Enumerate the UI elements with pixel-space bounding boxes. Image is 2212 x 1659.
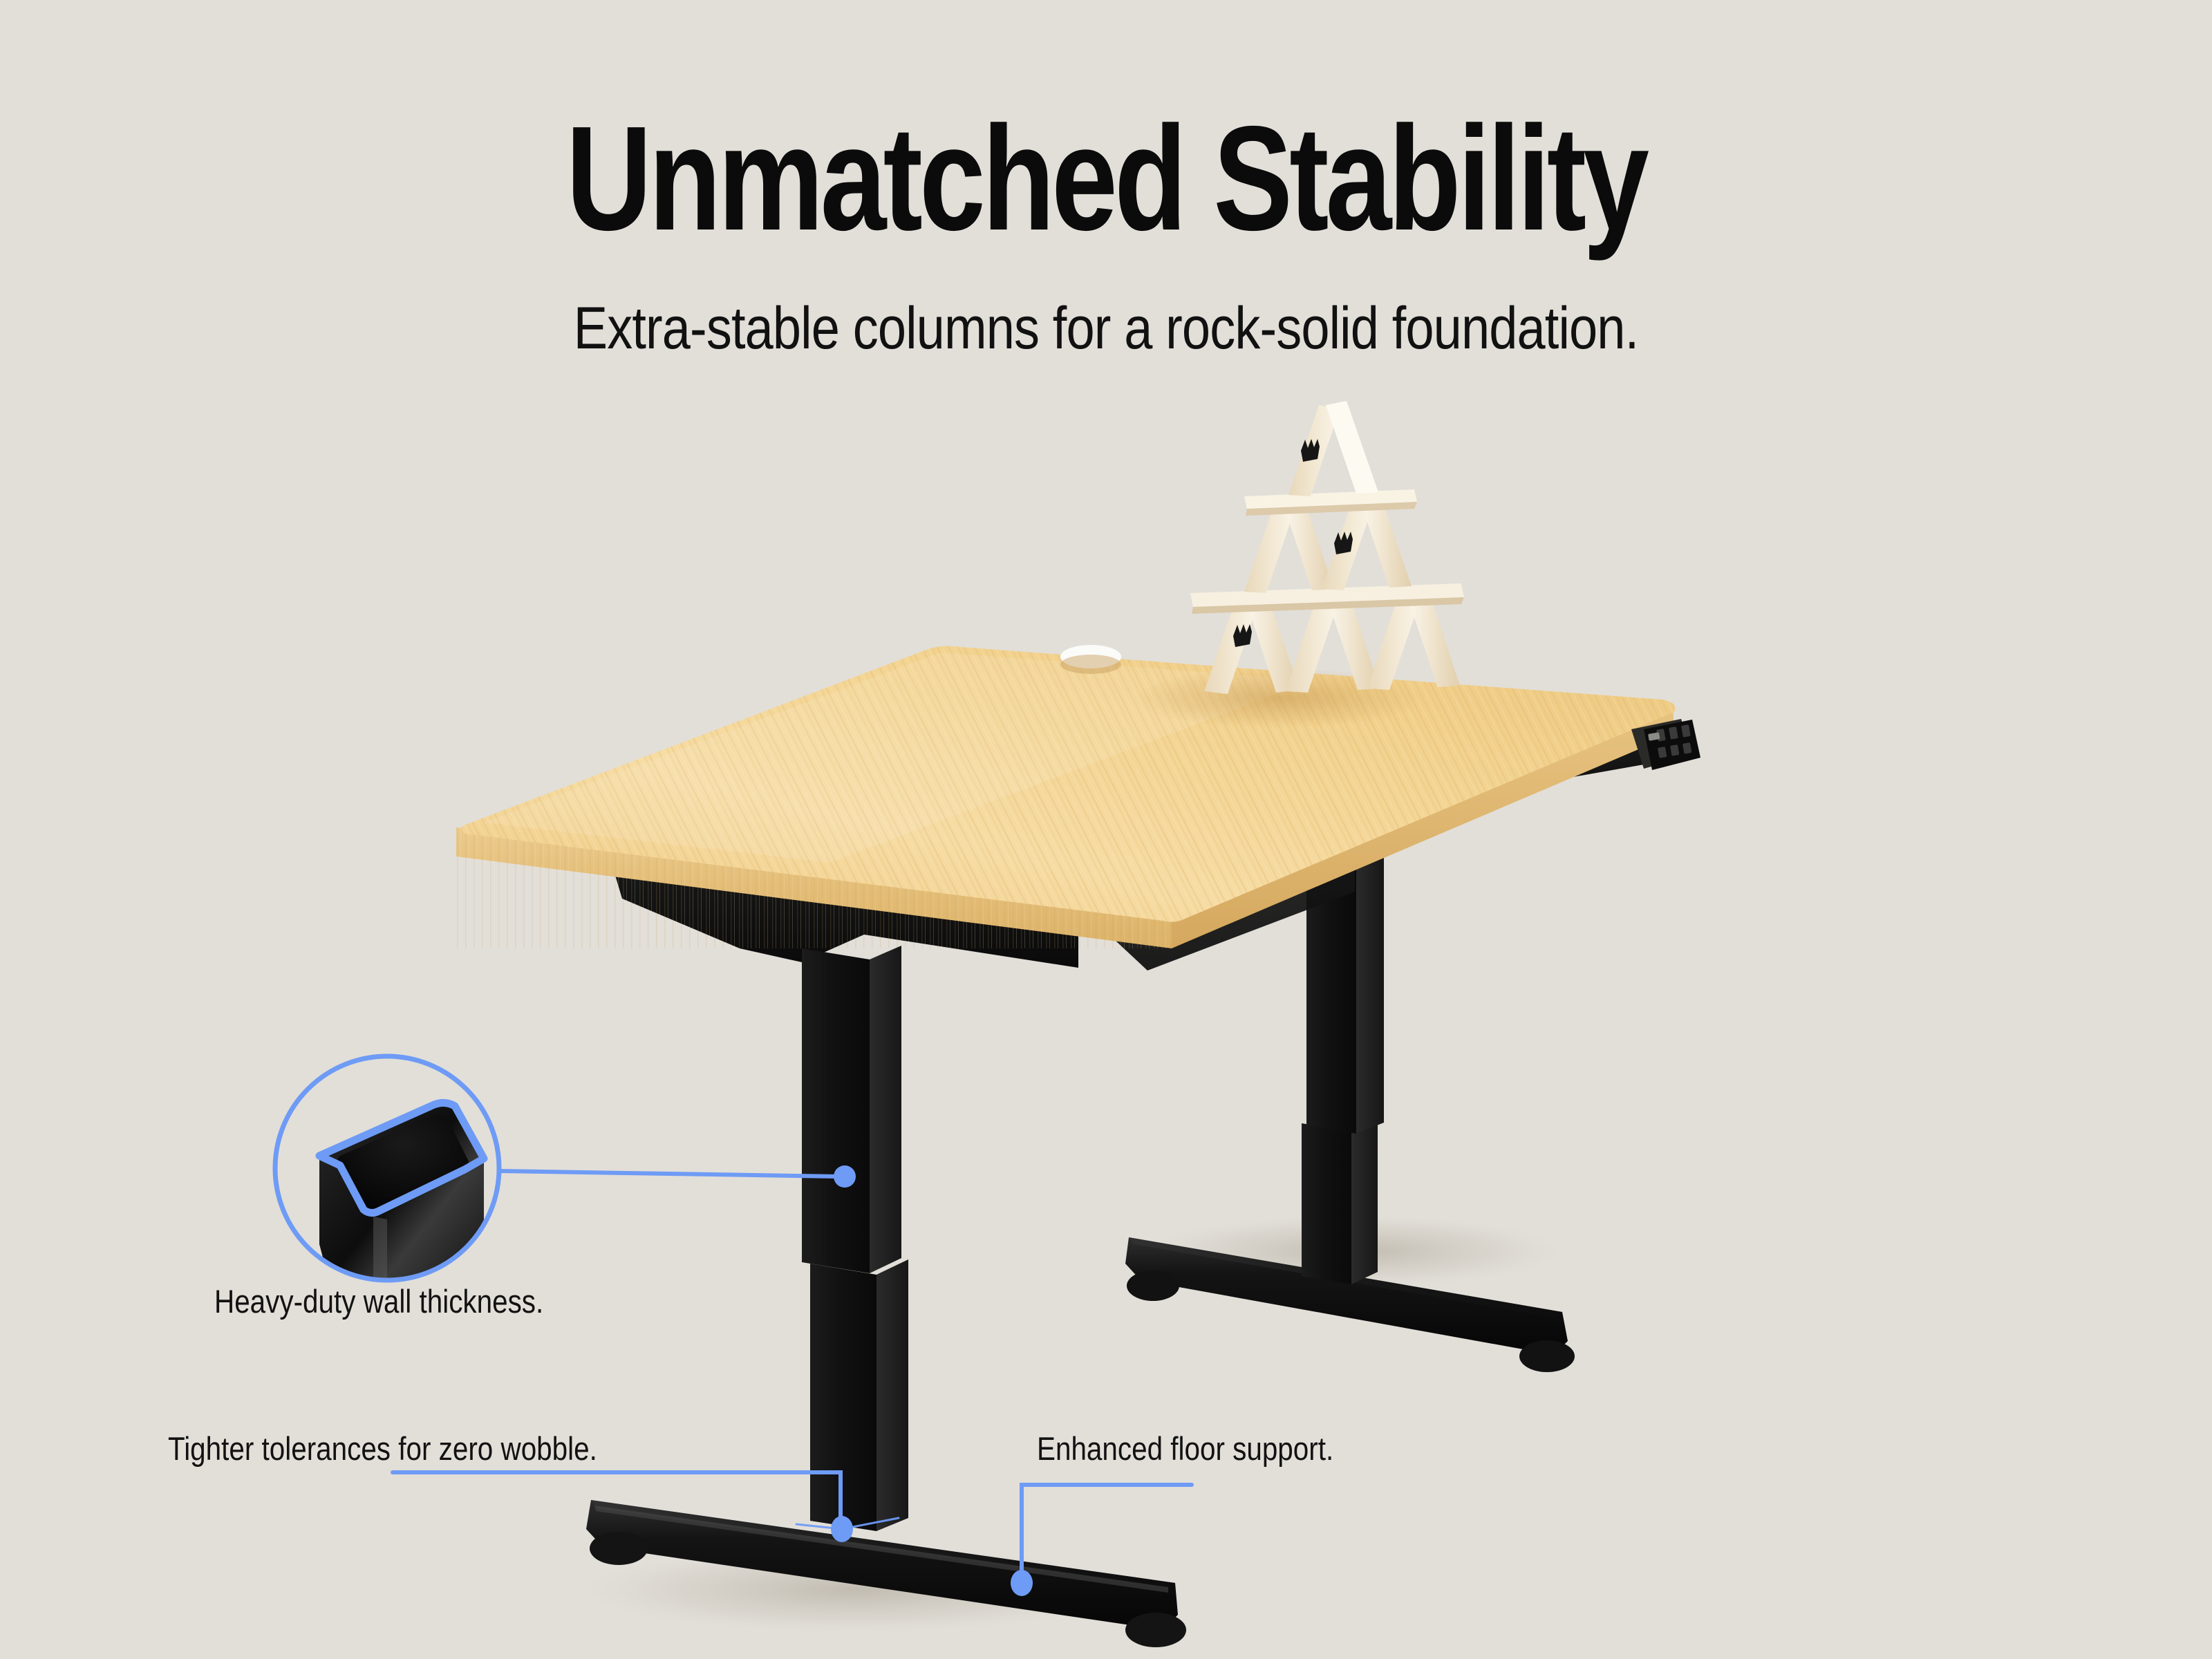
cable-grommet-shadow bbox=[1060, 655, 1121, 674]
rear-glide-right bbox=[1519, 1340, 1575, 1372]
front-glide-right bbox=[1125, 1613, 1186, 1647]
callout-leaders bbox=[393, 1171, 1192, 1579]
callout-label-floor-support: Enhanced floor support. bbox=[1037, 1430, 1333, 1468]
rear-glide-left bbox=[1127, 1271, 1179, 1301]
front-leg bbox=[586, 946, 1186, 1647]
front-glide-left bbox=[590, 1532, 648, 1565]
front-column-upper bbox=[802, 948, 870, 1273]
product-illustration bbox=[0, 0, 2212, 1659]
logo-icon-top bbox=[1301, 439, 1320, 462]
front-column-upper-side bbox=[870, 946, 901, 1273]
front-column-lower bbox=[810, 1264, 877, 1531]
card-t2 bbox=[1326, 401, 1378, 494]
rear-column-lower bbox=[1302, 1123, 1351, 1284]
callout-label-tolerances: Tighter tolerances for zero wobble. bbox=[168, 1430, 597, 1468]
rear-column-lower-side bbox=[1351, 1121, 1378, 1284]
detail-bubble-wall-thickness bbox=[275, 1056, 499, 1311]
leader-wall-thickness bbox=[499, 1171, 841, 1177]
dot-floor-support bbox=[1011, 1570, 1033, 1596]
dot-tolerances bbox=[831, 1516, 853, 1542]
desktop bbox=[456, 645, 1675, 971]
rear-column-upper-side bbox=[1356, 838, 1384, 1134]
house-of-cards bbox=[1190, 401, 1464, 694]
marketing-banner: Unmatched Stability Extra-stable columns… bbox=[0, 0, 2212, 1659]
front-column-lower-side bbox=[877, 1259, 908, 1531]
dot-wall-thickness bbox=[834, 1165, 856, 1188]
callout-label-wall-thickness: Heavy-duty wall thickness. bbox=[214, 1282, 543, 1320]
logo-icon-mid bbox=[1334, 532, 1353, 554]
